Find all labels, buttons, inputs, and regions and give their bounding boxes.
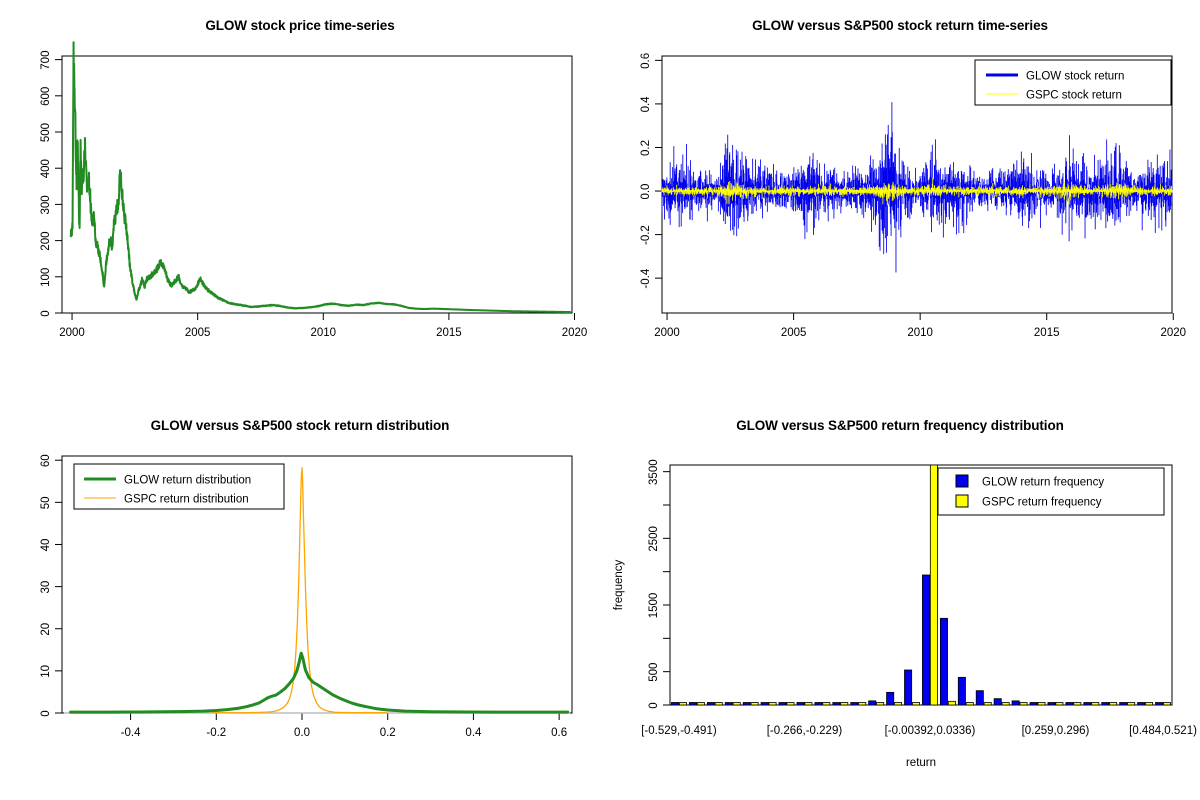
legend-item-label: GLOW return frequency bbox=[982, 477, 1104, 489]
y-tick-label: 500 bbox=[40, 123, 52, 142]
gspc-frequency-bar bbox=[948, 701, 955, 705]
y-tick-label: 20 bbox=[40, 623, 52, 636]
glow-density-curve bbox=[71, 653, 568, 712]
legend-item-label: GLOW stock return bbox=[1026, 71, 1124, 83]
figure-grid: GLOW stock price time-series 01002003004… bbox=[0, 0, 1200, 800]
y-tick-label: 0 bbox=[40, 710, 52, 716]
x-tick-label: 2000 bbox=[654, 327, 680, 339]
y-tick-label: 1500 bbox=[648, 593, 660, 619]
x-tick-label: 0.6 bbox=[551, 727, 567, 739]
gspc-frequency-bar bbox=[1038, 703, 1045, 706]
gspc-frequency-bar bbox=[1020, 703, 1027, 706]
gspc-frequency-bar bbox=[1145, 703, 1152, 706]
glow-frequency-bar bbox=[976, 691, 983, 705]
y-tick-label: 50 bbox=[40, 496, 52, 509]
panel-1-plot: 0100200300400500600700200020052010201520… bbox=[0, 0, 600, 400]
y-tick-label: 600 bbox=[40, 87, 52, 106]
glow-frequency-bar bbox=[1120, 703, 1127, 706]
gspc-frequency-bar bbox=[966, 703, 973, 706]
y-tick-label: 3500 bbox=[648, 459, 660, 485]
y-tick-label: 0.6 bbox=[640, 53, 652, 69]
y-tick-label: 0.4 bbox=[640, 96, 652, 113]
glow-frequency-bar bbox=[1138, 703, 1145, 706]
y-tick-label: -0.2 bbox=[640, 225, 652, 245]
x-tick-label: [-0.00392,0.0336) bbox=[885, 725, 976, 737]
gspc-frequency-bar bbox=[769, 703, 776, 706]
y-tick-label: 200 bbox=[40, 232, 52, 251]
panel-return-frequency: GLOW versus S&P500 return frequency dist… bbox=[600, 400, 1200, 800]
panel-return-timeseries: GLOW versus S&P500 stock return time-ser… bbox=[600, 0, 1200, 400]
y-tick-label: 0.0 bbox=[640, 184, 652, 200]
x-tick-label: 2010 bbox=[310, 327, 336, 339]
y-tick-label: 300 bbox=[40, 195, 52, 214]
gspc-frequency-bar bbox=[715, 703, 722, 706]
gspc-frequency-bar bbox=[823, 703, 830, 706]
gspc-frequency-bar bbox=[1110, 703, 1117, 706]
gspc-frequency-bar bbox=[984, 703, 991, 706]
glow-frequency-bar bbox=[1066, 703, 1073, 706]
x-axis-title: return bbox=[906, 757, 936, 769]
glow-frequency-bar bbox=[869, 701, 876, 705]
gspc-frequency-bar bbox=[912, 703, 919, 706]
y-tick-label: -0.4 bbox=[640, 268, 652, 288]
y-tick-label: 60 bbox=[40, 454, 52, 467]
legend-item-label: GSPC return distribution bbox=[124, 494, 249, 506]
x-tick-label: 2010 bbox=[907, 327, 933, 339]
x-tick-label: [0.484,0.521) bbox=[1129, 725, 1197, 737]
glow-frequency-bar bbox=[1012, 701, 1019, 705]
x-tick-label: 0.0 bbox=[294, 727, 310, 739]
x-tick-label: 2015 bbox=[436, 327, 462, 339]
gspc-frequency-bar bbox=[1002, 703, 1009, 706]
panel-glow-price: GLOW stock price time-series 01002003004… bbox=[0, 0, 600, 400]
x-tick-label: 2015 bbox=[1034, 327, 1060, 339]
x-tick-label: 2000 bbox=[59, 327, 85, 339]
x-tick-label: 2005 bbox=[185, 327, 211, 339]
legend-item-label: GSPC return frequency bbox=[982, 497, 1102, 509]
gspc-frequency-bar bbox=[733, 703, 740, 706]
glow-frequency-bar bbox=[1084, 703, 1091, 706]
x-tick-label: -0.2 bbox=[206, 727, 226, 739]
panel-3-plot: 0102030405060-0.4-0.20.00.20.40.6GLOW re… bbox=[0, 400, 600, 800]
gspc-frequency-bar bbox=[805, 703, 812, 706]
x-tick-label: [0.259,0.296) bbox=[1022, 725, 1090, 737]
x-tick-label: 2005 bbox=[781, 327, 807, 339]
glow-price-line bbox=[71, 42, 571, 312]
glow-frequency-bar bbox=[1048, 703, 1055, 706]
gspc-frequency-bar bbox=[697, 703, 704, 706]
gspc-frequency-bar bbox=[679, 703, 686, 706]
y-tick-label: 700 bbox=[40, 51, 52, 70]
y-tick-label: 40 bbox=[40, 539, 52, 552]
y-tick-label: 10 bbox=[40, 665, 52, 678]
plot-box bbox=[62, 56, 572, 313]
y-tick-label: 30 bbox=[40, 581, 52, 594]
y-tick-label: 0 bbox=[40, 310, 52, 316]
y-tick-label: 2500 bbox=[648, 526, 660, 552]
gspc-frequency-bar bbox=[894, 703, 901, 706]
glow-frequency-bar bbox=[905, 670, 912, 705]
gspc-frequency-bar bbox=[877, 703, 884, 706]
panel-2-plot: -0.4-0.20.00.20.40.620002005201020152020… bbox=[600, 0, 1200, 400]
gspc-frequency-bar bbox=[787, 703, 794, 706]
glow-frequency-bar bbox=[761, 703, 768, 706]
x-tick-label: 0.4 bbox=[465, 727, 482, 739]
glow-frequency-bar bbox=[1030, 703, 1037, 706]
x-tick-label: 0.2 bbox=[380, 727, 396, 739]
legend-item-label: GLOW return distribution bbox=[124, 475, 251, 487]
x-tick-label: [-0.529,-0.491) bbox=[641, 725, 717, 737]
panel-return-distribution: GLOW versus S&P500 stock return distribu… bbox=[0, 400, 600, 800]
y-tick-label: 100 bbox=[40, 268, 52, 287]
glow-frequency-bar bbox=[887, 692, 894, 705]
glow-frequency-bar bbox=[797, 703, 804, 706]
legend-swatch-square bbox=[956, 475, 968, 487]
glow-frequency-bar bbox=[689, 703, 696, 706]
y-tick-label: 0 bbox=[648, 702, 660, 708]
glow-frequency-bar bbox=[958, 677, 965, 705]
glow-frequency-bar bbox=[707, 703, 714, 706]
gspc-frequency-bar bbox=[1128, 703, 1135, 706]
gspc-frequency-bar bbox=[1074, 703, 1081, 706]
y-tick-label: 0.2 bbox=[640, 140, 652, 156]
glow-frequency-bar bbox=[743, 703, 750, 706]
gspc-frequency-bar bbox=[1163, 703, 1170, 706]
glow-frequency-bar bbox=[1156, 703, 1163, 706]
glow-frequency-bar bbox=[671, 703, 678, 706]
x-tick-label: [-0.266,-0.229) bbox=[767, 725, 843, 737]
gspc-frequency-bar bbox=[841, 703, 848, 706]
glow-frequency-bar bbox=[994, 699, 1001, 705]
x-tick-label: 2020 bbox=[562, 327, 588, 339]
gspc-frequency-bar bbox=[930, 465, 937, 705]
gspc-frequency-bar bbox=[1092, 703, 1099, 706]
glow-frequency-bar bbox=[940, 618, 947, 705]
gspc-frequency-bar bbox=[859, 703, 866, 706]
legend-swatch-square bbox=[956, 495, 968, 507]
x-tick-label: -0.4 bbox=[121, 727, 141, 739]
y-axis-title: frequency bbox=[613, 560, 625, 611]
glow-frequency-bar bbox=[815, 703, 822, 706]
gspc-frequency-bar bbox=[1056, 703, 1063, 706]
x-tick-label: 2020 bbox=[1160, 327, 1186, 339]
glow-frequency-bar bbox=[725, 703, 732, 706]
panel-4-plot: 0500150025003500frequencyreturn[-0.529,-… bbox=[600, 400, 1200, 800]
legend-item-label: GSPC stock return bbox=[1026, 90, 1122, 102]
glow-frequency-bar bbox=[779, 703, 786, 706]
y-tick-label: 400 bbox=[40, 159, 52, 178]
glow-frequency-bar bbox=[1102, 703, 1109, 706]
gspc-frequency-bar bbox=[751, 703, 758, 706]
glow-frequency-bar bbox=[922, 575, 929, 705]
glow-frequency-bar bbox=[833, 703, 840, 706]
glow-frequency-bar bbox=[851, 703, 858, 706]
y-tick-label: 500 bbox=[648, 663, 660, 682]
